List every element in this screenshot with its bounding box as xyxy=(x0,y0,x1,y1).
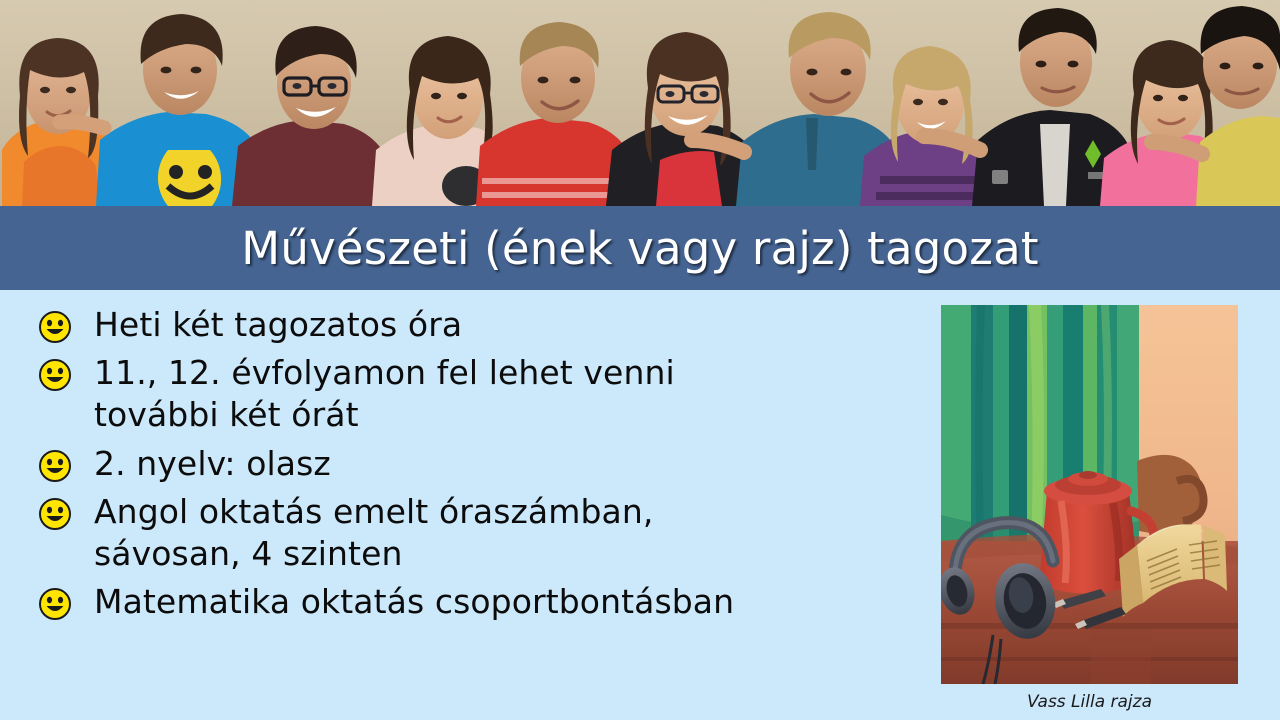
smiley-face-icon xyxy=(38,358,72,392)
smiley-face-icon xyxy=(38,449,72,483)
bullet-list: Heti két tagozatos óra 11., 12. évfolyam… xyxy=(38,304,918,630)
header-photo xyxy=(0,0,1280,206)
list-item-label: 11., 12. évfolyamon fel lehet venni tová… xyxy=(94,352,675,436)
list-item-line: sávosan, 4 szinten xyxy=(94,534,402,573)
list-item: Matematika oktatás csoportbontásban xyxy=(38,581,918,623)
list-item-line: 11., 12. évfolyamon fel lehet venni xyxy=(94,353,675,392)
list-item-label: 2. nyelv: olasz xyxy=(94,443,331,485)
list-item-label: Angol oktatás emelt óraszámban, sávosan,… xyxy=(94,491,653,575)
smiley-face-icon xyxy=(38,497,72,531)
slide-body: Heti két tagozatos óra 11., 12. évfolyam… xyxy=(0,290,1280,720)
smiley-face-icon xyxy=(38,587,72,621)
list-item-line: Angol oktatás emelt óraszámban, xyxy=(94,492,653,531)
artwork-figure: Vass Lilla rajza xyxy=(941,305,1238,712)
slide: Művészeti (ének vagy rajz) tagozat Heti … xyxy=(0,0,1280,720)
list-item-line: további két órát xyxy=(94,395,359,434)
page-title: Művészeti (ének vagy rajz) tagozat xyxy=(241,226,1038,271)
list-item-label: Heti két tagozatos óra xyxy=(94,304,462,346)
list-item-label: Matematika oktatás csoportbontásban xyxy=(94,581,734,623)
list-item: Angol oktatás emelt óraszámban, sávosan,… xyxy=(38,491,918,575)
list-item: 2. nyelv: olasz xyxy=(38,443,918,485)
header-photo-image xyxy=(0,0,1280,206)
list-item: Heti két tagozatos óra xyxy=(38,304,918,346)
title-banner: Művészeti (ének vagy rajz) tagozat xyxy=(0,206,1280,290)
list-item: 11., 12. évfolyamon fel lehet venni tová… xyxy=(38,352,918,436)
artwork-image xyxy=(941,305,1238,684)
artwork-caption: Vass Lilla rajza xyxy=(941,692,1238,712)
smiley-face-icon xyxy=(38,310,72,344)
